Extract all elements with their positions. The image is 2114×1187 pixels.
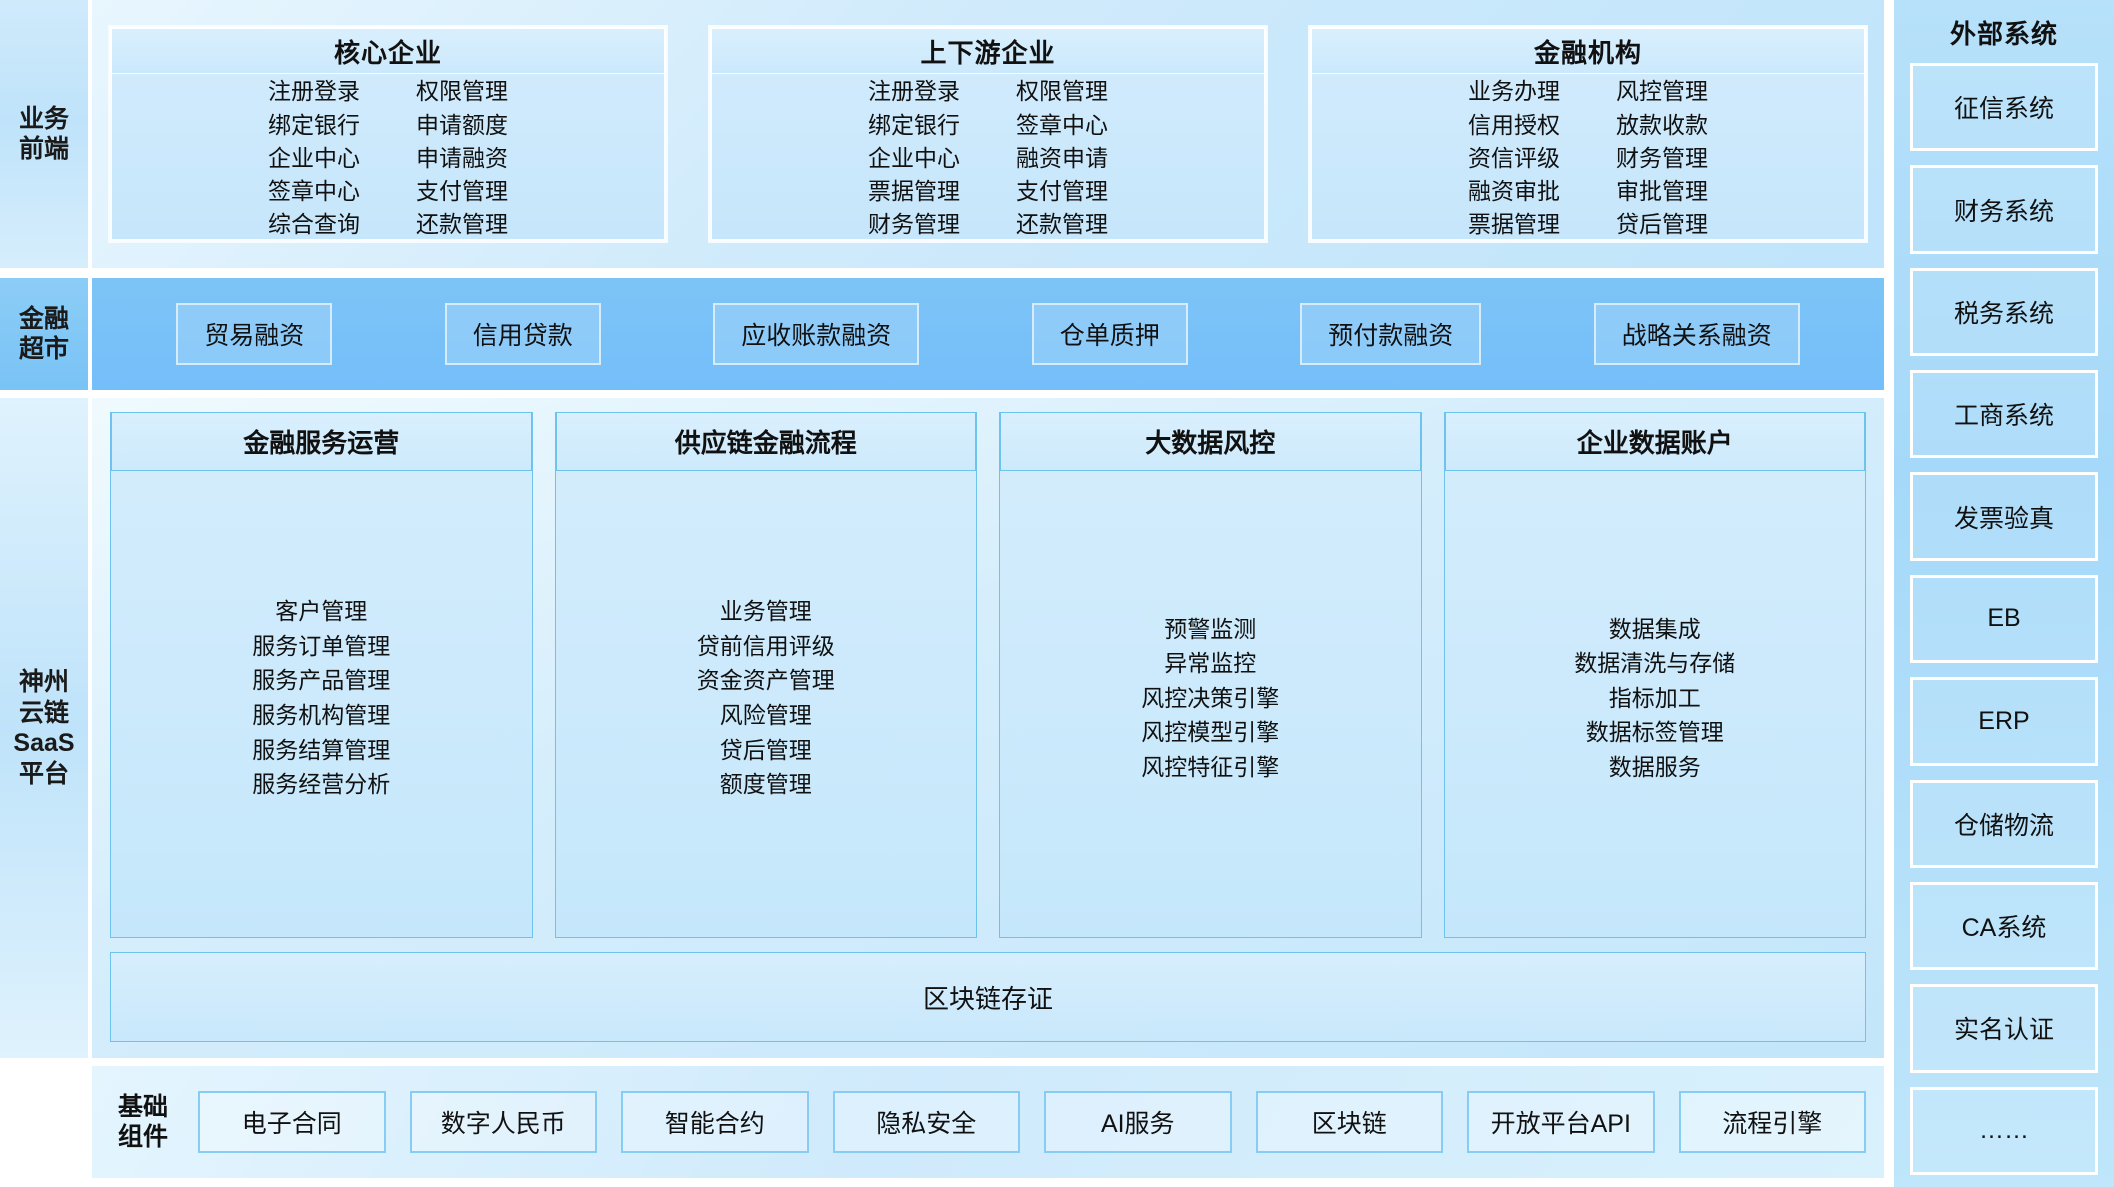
list-item: 数据标签管理 xyxy=(1586,717,1724,748)
list-item: 注册登录 xyxy=(868,76,960,106)
list-item: 数据服务 xyxy=(1609,752,1701,783)
list-item: 服务产品管理 xyxy=(252,665,390,696)
saas-content-container: 金融服务运营 客户管理 服务订单管理 服务产品管理 服务机构管理 服务结算管理 … xyxy=(92,398,1884,1058)
list-item: 签章中心 xyxy=(1016,110,1108,140)
card-column-right: 权限管理 签章中心 融资申请 支付管理 还款管理 xyxy=(1016,76,1108,239)
list-item: 信用授权 xyxy=(1468,110,1560,140)
list-item: 支付管理 xyxy=(416,176,508,206)
saas-card-big-data-risk-control[interactable]: 大数据风控 预警监测 异常监控 风控决策引擎 风控模型引擎 风控特征引擎 xyxy=(999,412,1422,938)
list-item: 风险管理 xyxy=(720,700,812,731)
list-item: 客户管理 xyxy=(275,596,367,627)
market-chip-credit-loan[interactable]: 信用贷款 xyxy=(445,303,601,365)
list-item: 业务管理 xyxy=(720,596,812,627)
card-column-left: 注册登录 绑定银行 企业中心 票据管理 财务管理 xyxy=(868,76,960,239)
frontend-card-upstream-downstream[interactable]: 上下游企业 注册登录 绑定银行 企业中心 票据管理 财务管理 权限管理 签章中心… xyxy=(708,25,1268,243)
market-chip-receivables-finance[interactable]: 应收账款融资 xyxy=(713,303,919,365)
card-body: 数据集成 数据清洗与存储 指标加工 数据标签管理 数据服务 xyxy=(1445,471,1866,937)
external-chip-invoice-verification[interactable]: 发票验真 xyxy=(1910,472,2098,560)
saas-card-financial-service-operation[interactable]: 金融服务运营 客户管理 服务订单管理 服务产品管理 服务机构管理 服务结算管理 … xyxy=(110,412,533,938)
layer-row-frontend: 业务 前端 核心企业 注册登录 绑定银行 企业中心 签章中心 综合查询 权限管理… xyxy=(0,0,1884,268)
external-chip-more[interactable]: …… xyxy=(1910,1087,2098,1175)
base-chip-smart-contract[interactable]: 智能合约 xyxy=(621,1091,809,1153)
list-item: 注册登录 xyxy=(268,76,360,106)
layer-row-saas-platform: 神州 云链 SaaS 平台 金融服务运营 客户管理 服务订单管理 服务产品管理 … xyxy=(0,398,1884,1058)
list-item: 风控特征引擎 xyxy=(1141,752,1279,783)
market-chip-trade-finance[interactable]: 贸易融资 xyxy=(176,303,332,365)
frontend-cards-container: 核心企业 注册登录 绑定银行 企业中心 签章中心 综合查询 权限管理 申请额度 … xyxy=(92,0,1884,268)
list-item: 预警监测 xyxy=(1164,614,1256,645)
layer-row-financial-market: 金融 超市 贸易融资 信用贷款 应收账款融资 仓单质押 预付款融资 战略关系融资 xyxy=(0,278,1884,390)
list-item: 企业中心 xyxy=(868,143,960,173)
card-body: 预警监测 异常监控 风控决策引擎 风控模型引擎 风控特征引擎 xyxy=(1000,471,1421,937)
layer-label-financial-market: 金融 超市 xyxy=(0,278,88,390)
frontend-card-core-enterprise[interactable]: 核心企业 注册登录 绑定银行 企业中心 签章中心 综合查询 权限管理 申请额度 … xyxy=(108,25,668,243)
external-chip-business-registration-system[interactable]: 工商系统 xyxy=(1910,370,2098,458)
list-item: 数据清洗与存储 xyxy=(1574,648,1735,679)
layer-label-frontend: 业务 前端 xyxy=(0,0,88,268)
saas-card-supply-chain-finance-process[interactable]: 供应链金融流程 业务管理 贷前信用评级 资金资产管理 风险管理 贷后管理 额度管… xyxy=(555,412,978,938)
list-item: 融资申请 xyxy=(1016,143,1108,173)
external-chip-warehouse-logistics[interactable]: 仓储物流 xyxy=(1910,780,2098,868)
card-column-right: 权限管理 申请额度 申请融资 支付管理 还款管理 xyxy=(416,76,508,239)
list-item: 异常监控 xyxy=(1164,648,1256,679)
list-item: 服务经营分析 xyxy=(252,769,390,800)
list-item: 还款管理 xyxy=(416,209,508,239)
card-body: 业务办理 信用授权 资信评级 融资审批 票据管理 风控管理 放款收款 财务管理 … xyxy=(1310,73,1866,241)
market-chip-warehouse-receipt-pledge[interactable]: 仓单质押 xyxy=(1032,303,1188,365)
external-systems-column: 外部系统 征信系统 财务系统 税务系统 工商系统 发票验真 EB ERP 仓储物… xyxy=(1894,0,2114,1187)
external-chip-real-name-authentication[interactable]: 实名认证 xyxy=(1910,984,2098,1072)
list-item: 申请融资 xyxy=(416,143,508,173)
base-chip-process-engine[interactable]: 流程引擎 xyxy=(1679,1091,1867,1153)
list-item: 票据管理 xyxy=(1468,209,1560,239)
external-chip-eb[interactable]: EB xyxy=(1910,575,2098,663)
list-item: 数据集成 xyxy=(1609,614,1701,645)
card-body: 注册登录 绑定银行 企业中心 票据管理 财务管理 权限管理 签章中心 融资申请 … xyxy=(710,73,1266,241)
saas-cards-row: 金融服务运营 客户管理 服务订单管理 服务产品管理 服务机构管理 服务结算管理 … xyxy=(110,412,1866,938)
market-chips-container: 贸易融资 信用贷款 应收账款融资 仓单质押 预付款融资 战略关系融资 xyxy=(92,278,1884,390)
list-item: 贷前信用评级 xyxy=(697,631,835,662)
list-item: 绑定银行 xyxy=(868,110,960,140)
list-item: 票据管理 xyxy=(868,176,960,206)
external-chip-finance-system[interactable]: 财务系统 xyxy=(1910,165,2098,253)
frontend-card-financial-institution[interactable]: 金融机构 业务办理 信用授权 资信评级 融资审批 票据管理 风控管理 放款收款 … xyxy=(1308,25,1868,243)
list-item: 签章中心 xyxy=(268,176,360,206)
card-title: 金融服务运营 xyxy=(111,413,532,471)
card-body: 业务管理 贷前信用评级 资金资产管理 风险管理 贷后管理 额度管理 xyxy=(556,471,977,937)
list-item: 业务办理 xyxy=(1468,76,1560,106)
list-item: 服务订单管理 xyxy=(252,631,390,662)
card-column-left: 注册登录 绑定银行 企业中心 签章中心 综合查询 xyxy=(268,76,360,239)
list-item: 还款管理 xyxy=(1016,209,1108,239)
list-item: 权限管理 xyxy=(416,76,508,106)
architecture-diagram: 业务 前端 核心企业 注册登录 绑定银行 企业中心 签章中心 综合查询 权限管理… xyxy=(0,0,2114,1187)
list-item: 企业中心 xyxy=(268,143,360,173)
saas-blockchain-evidence-bar[interactable]: 区块链存证 xyxy=(110,952,1866,1042)
list-item: 支付管理 xyxy=(1016,176,1108,206)
base-chip-open-platform-api[interactable]: 开放平台API xyxy=(1467,1091,1655,1153)
list-item: 申请额度 xyxy=(416,110,508,140)
base-chip-digital-rmb[interactable]: 数字人民币 xyxy=(410,1091,598,1153)
base-components-container: 基础 组件 电子合同 数字人民币 智能合约 隐私安全 AI服务 区块链 开放平台… xyxy=(92,1066,1884,1178)
list-item: 服务结算管理 xyxy=(252,735,390,766)
list-item: 综合查询 xyxy=(268,209,360,239)
card-title: 企业数据账户 xyxy=(1445,413,1866,471)
external-chip-erp[interactable]: ERP xyxy=(1910,677,2098,765)
external-chip-tax-system[interactable]: 税务系统 xyxy=(1910,268,2098,356)
base-chips-row: 电子合同 数字人民币 智能合约 隐私安全 AI服务 区块链 开放平台API 流程… xyxy=(198,1091,1866,1153)
base-chip-privacy-security[interactable]: 隐私安全 xyxy=(833,1091,1021,1153)
list-item: 资金资产管理 xyxy=(697,665,835,696)
list-item: 风控决策引擎 xyxy=(1141,683,1279,714)
list-item: 资信评级 xyxy=(1468,143,1560,173)
list-item: 风控模型引擎 xyxy=(1141,717,1279,748)
layer-row-base-components: 基础 组件 电子合同 数字人民币 智能合约 隐私安全 AI服务 区块链 开放平台… xyxy=(0,1066,1884,1178)
base-row-spacer xyxy=(0,1066,88,1178)
list-item: 财务管理 xyxy=(1616,143,1708,173)
card-title: 上下游企业 xyxy=(710,27,1266,73)
market-chip-prepayment-finance[interactable]: 预付款融资 xyxy=(1300,303,1481,365)
card-title: 金融机构 xyxy=(1310,27,1866,73)
layer-label-base-components: 基础 组件 xyxy=(110,1092,176,1153)
card-title: 核心企业 xyxy=(110,27,666,73)
external-chip-credit-reporting-system[interactable]: 征信系统 xyxy=(1910,63,2098,151)
card-body: 客户管理 服务订单管理 服务产品管理 服务机构管理 服务结算管理 服务经营分析 xyxy=(111,471,532,937)
list-item: 风控管理 xyxy=(1616,76,1708,106)
saas-card-enterprise-data-account[interactable]: 企业数据账户 数据集成 数据清洗与存储 指标加工 数据标签管理 数据服务 xyxy=(1444,412,1867,938)
external-systems-title: 外部系统 xyxy=(1950,14,2058,51)
list-item: 指标加工 xyxy=(1609,683,1701,714)
list-item: 放款收款 xyxy=(1616,110,1708,140)
list-item: 服务机构管理 xyxy=(252,700,390,731)
external-chip-ca-system[interactable]: CA系统 xyxy=(1910,882,2098,970)
list-item: 权限管理 xyxy=(1016,76,1108,106)
list-item: 融资审批 xyxy=(1468,176,1560,206)
layer-label-saas-platform: 神州 云链 SaaS 平台 xyxy=(0,398,88,1058)
card-column-left: 业务办理 信用授权 资信评级 融资审批 票据管理 xyxy=(1468,76,1560,239)
card-title: 供应链金融流程 xyxy=(556,413,977,471)
card-title: 大数据风控 xyxy=(1000,413,1421,471)
card-body: 注册登录 绑定银行 企业中心 签章中心 综合查询 权限管理 申请额度 申请融资 … xyxy=(110,73,666,241)
list-item: 额度管理 xyxy=(720,769,812,800)
base-chip-ai-service[interactable]: AI服务 xyxy=(1044,1091,1232,1153)
list-item: 审批管理 xyxy=(1616,176,1708,206)
card-column-right: 风控管理 放款收款 财务管理 审批管理 贷后管理 xyxy=(1616,76,1708,239)
market-chip-strategic-relationship-finance[interactable]: 战略关系融资 xyxy=(1594,303,1800,365)
list-item: 绑定银行 xyxy=(268,110,360,140)
list-item: 贷后管理 xyxy=(1616,209,1708,239)
base-chip-electronic-contract[interactable]: 电子合同 xyxy=(198,1091,386,1153)
list-item: 财务管理 xyxy=(868,209,960,239)
list-item: 贷后管理 xyxy=(720,735,812,766)
base-chip-blockchain[interactable]: 区块链 xyxy=(1256,1091,1444,1153)
